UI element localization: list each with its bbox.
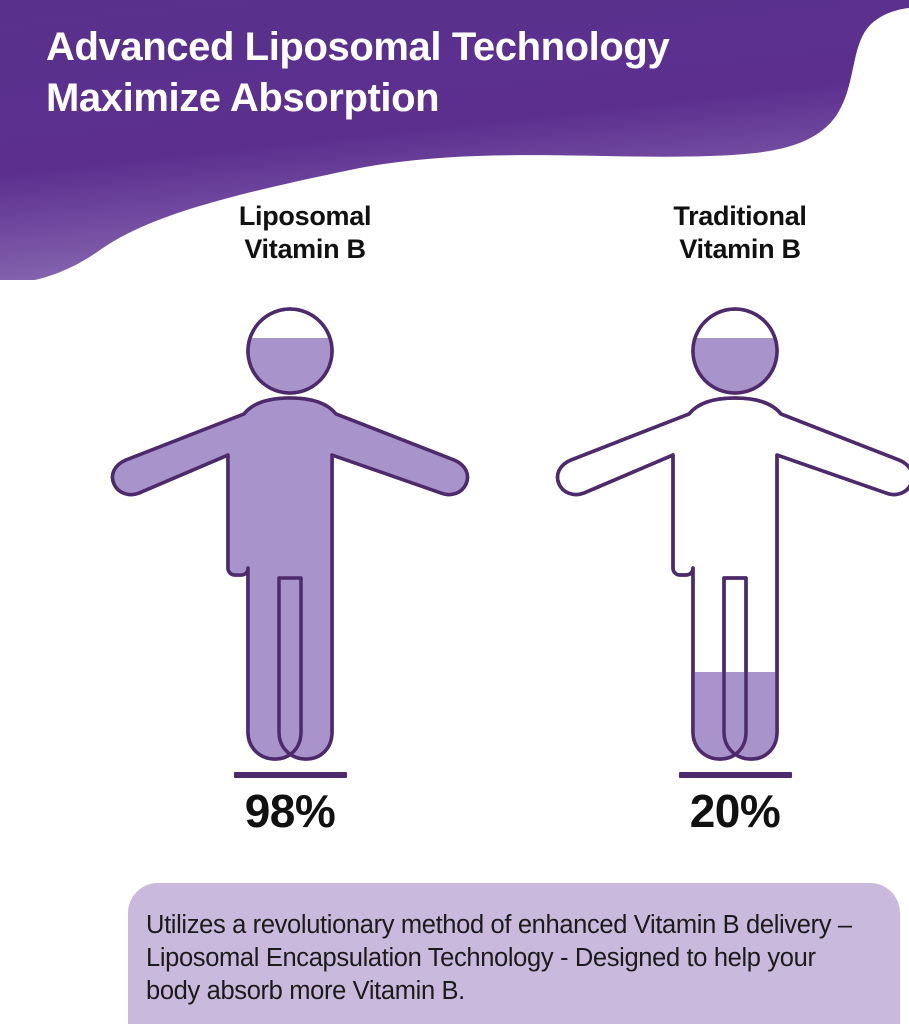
body-shape: [555, 398, 909, 780]
infographic-page: Advanced Liposomal Technology Maximize A…: [0, 0, 909, 1024]
percent-value: 98%: [110, 784, 470, 838]
head-fill-level: [248, 338, 332, 398]
percent-block-traditional: 20%: [555, 772, 909, 838]
body-fill-level: [555, 672, 909, 780]
percent-block-liposomal: 98%: [110, 772, 470, 838]
footnote-text: Utilizes a revolutionary method of enhan…: [146, 909, 874, 1008]
body-figure-icon: [110, 300, 470, 780]
percent-value: 20%: [555, 784, 909, 838]
percent-rule: [679, 772, 792, 778]
head-fill-level: [693, 338, 777, 398]
column-label-traditional: Traditional Vitamin B: [595, 200, 885, 266]
figure-liposomal: [110, 300, 470, 780]
percent-rule: [234, 772, 347, 778]
body-figure-icon: [555, 300, 909, 780]
footnote-card: Utilizes a revolutionary method of enhan…: [128, 883, 900, 1024]
body-fill-level: [110, 390, 470, 780]
body-shape: [110, 390, 470, 780]
page-title: Advanced Liposomal Technology Maximize A…: [46, 22, 846, 124]
figure-traditional: [555, 300, 909, 780]
column-label-liposomal: Liposomal Vitamin B: [160, 200, 450, 266]
